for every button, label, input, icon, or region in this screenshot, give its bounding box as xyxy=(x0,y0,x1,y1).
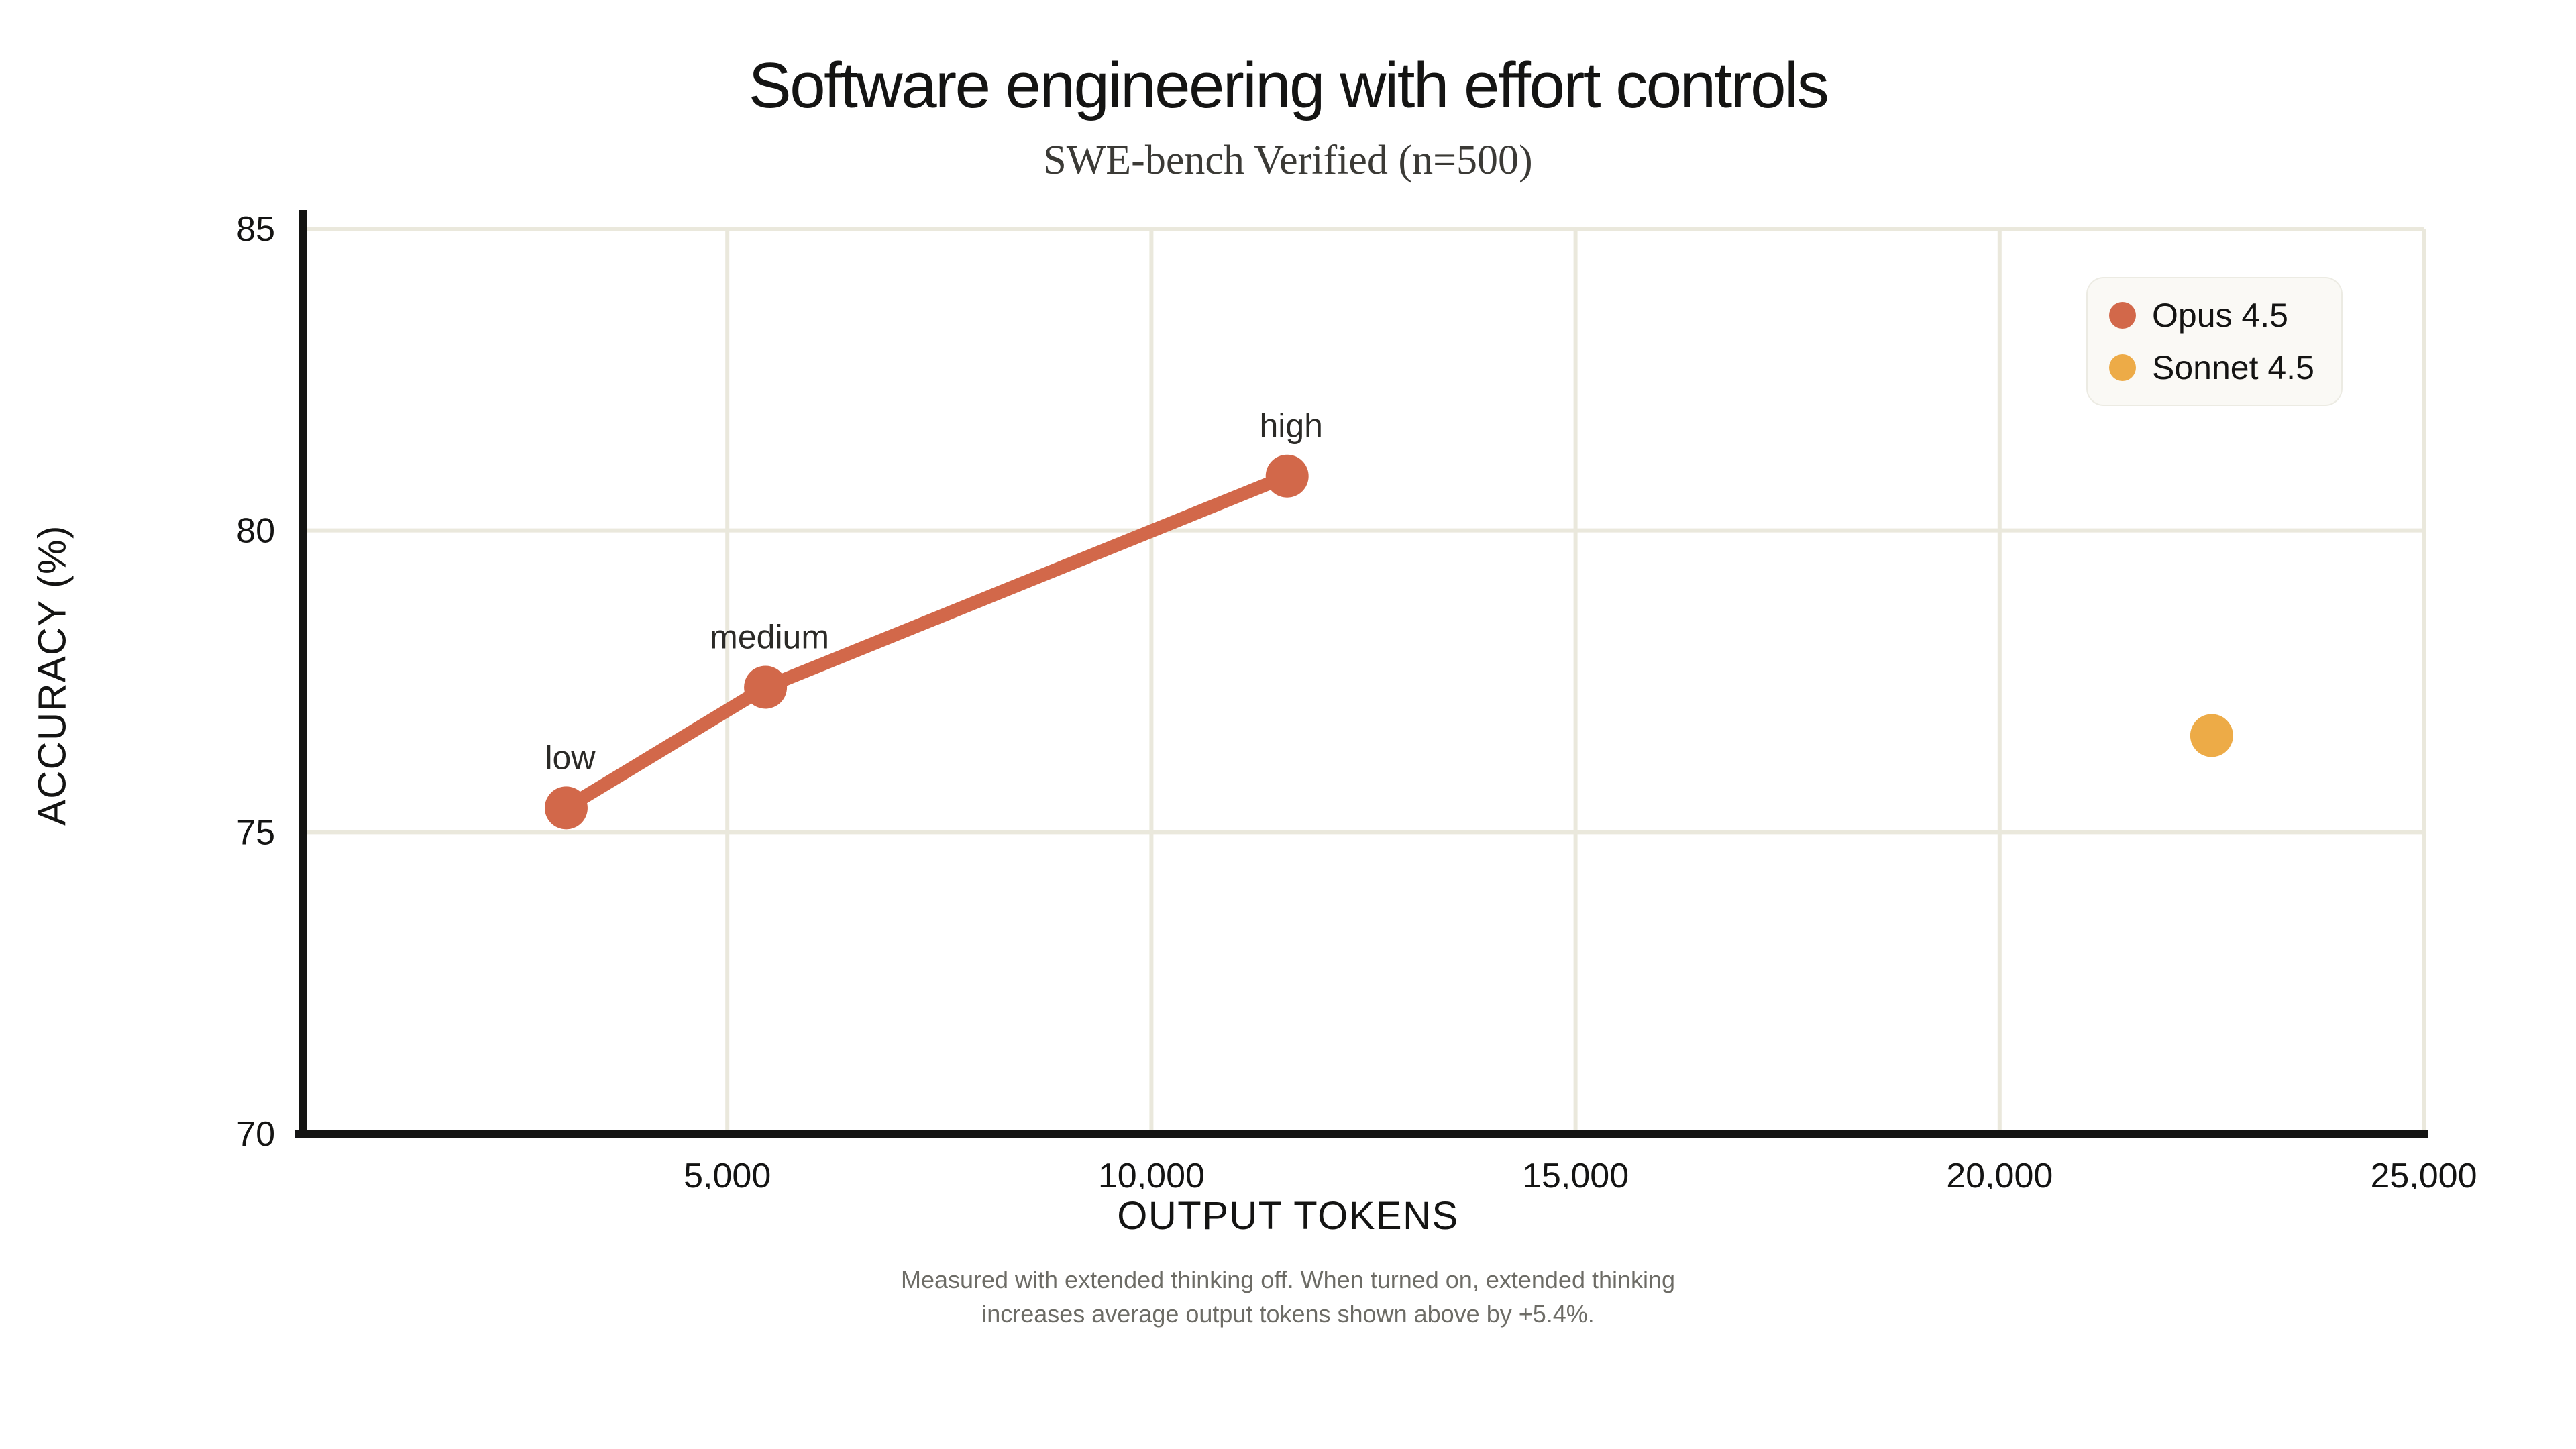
chart-footnote: Measured with extended thinking off. Whe… xyxy=(0,1263,2576,1331)
footnote-line-1: Measured with extended thinking off. Whe… xyxy=(0,1263,2576,1297)
chart-subtitle: SWE-bench Verified (n=500) xyxy=(0,138,2576,183)
data-point-marker[interactable] xyxy=(744,665,787,708)
y-axis-tick-label: 70 xyxy=(236,1115,275,1154)
footnote-line-2: increases average output tokens shown ab… xyxy=(0,1297,2576,1331)
y-axis-title: ACCURACY (%) xyxy=(30,407,75,943)
data-point-marker[interactable] xyxy=(1266,455,1309,498)
legend-label-sonnet: Sonnet 4.5 xyxy=(2152,348,2314,387)
x-axis-tick-label: 20,000 xyxy=(1946,1157,2053,1189)
data-point-marker[interactable] xyxy=(545,786,588,829)
chart-legend: Opus 4.5 Sonnet 4.5 xyxy=(2086,277,2343,406)
data-point-label: low xyxy=(545,739,596,776)
chart-header: Software engineering with effort control… xyxy=(0,0,2576,183)
legend-swatch-opus-icon xyxy=(2109,302,2136,329)
plot-area: 707580855,00010,00015,00020,00025,000low… xyxy=(0,183,2576,1189)
x-axis-tick-label: 25,000 xyxy=(2370,1157,2477,1189)
y-axis-tick-label: 75 xyxy=(236,813,275,852)
x-axis-tick-label: 5,000 xyxy=(684,1157,771,1189)
x-axis-tick-label: 15,000 xyxy=(1522,1157,1629,1189)
y-axis-tick-label: 85 xyxy=(236,210,275,249)
x-axis-tick-label: 10,000 xyxy=(1098,1157,1205,1189)
series-line-opus-4-5 xyxy=(566,476,1287,808)
data-point-label: medium xyxy=(710,618,829,655)
x-axis-title: OUTPUT TOKENS xyxy=(0,1193,2576,1238)
legend-item-sonnet[interactable]: Sonnet 4.5 xyxy=(2109,348,2314,387)
y-axis-tick-label: 80 xyxy=(236,512,275,551)
page-title: Software engineering with effort control… xyxy=(0,52,2576,120)
legend-swatch-sonnet-icon xyxy=(2109,354,2136,381)
legend-label-opus: Opus 4.5 xyxy=(2152,296,2288,335)
data-point-marker[interactable] xyxy=(2190,714,2233,757)
legend-item-opus[interactable]: Opus 4.5 xyxy=(2109,296,2314,335)
data-point-label: high xyxy=(1259,407,1323,445)
chart-container: Software engineering with effort control… xyxy=(0,0,2576,1331)
